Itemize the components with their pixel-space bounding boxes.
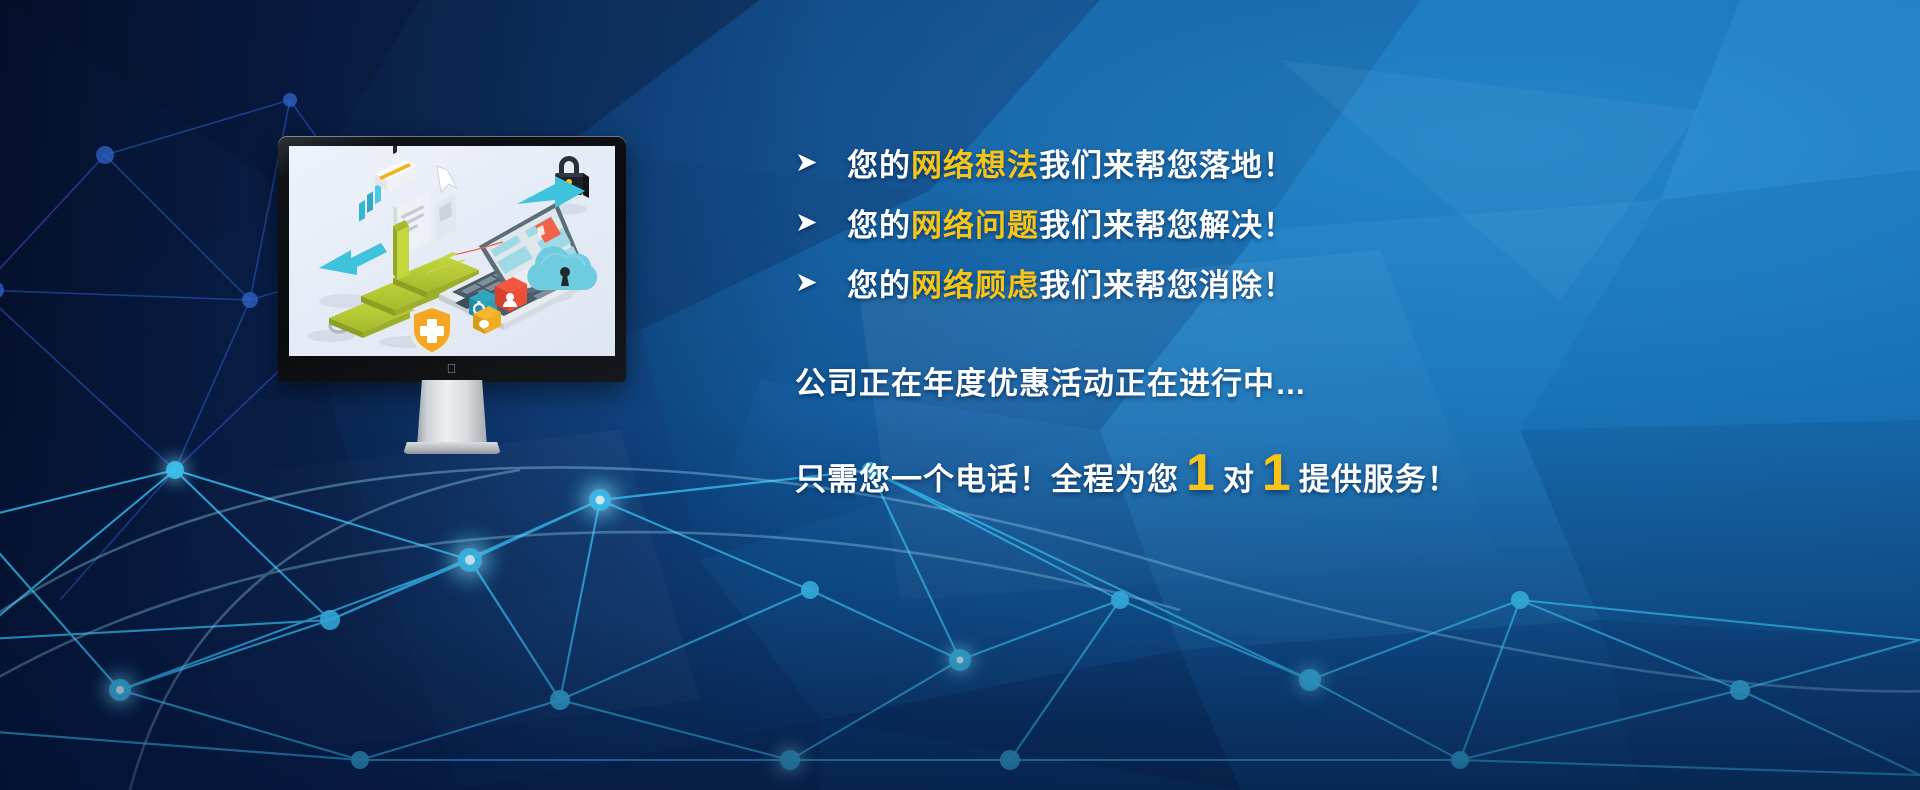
pen-icon [393,220,409,280]
arrow-right-triangle-icon: ➤ [795,209,847,236]
promo-subline: 只需您一个电话！全程为您 1 对 1 提供服务！ [795,447,1885,499]
promo-subline-middle: 对 [1223,454,1255,499]
apple-logo-icon:  [447,362,458,375]
bullet-row: ➤ 您的网络顾虑我们来帮您消除！ [795,252,1885,312]
bullet-highlight: 网络顾虑 [911,268,1039,303]
monitor-frame:  [278,136,626,382]
promo-subline-part2: 提供服务！ [1299,454,1459,499]
shield-plus-icon [410,304,454,356]
bullet-highlight: 网络想法 [911,148,1039,183]
left-arrow-icon [319,183,387,275]
bullet-suffix: 我们来帮您解决！ [1039,208,1295,243]
monitor-stand-foot [403,442,501,454]
promo-subline-part1: 只需您一个电话！全程为您 [795,454,1179,499]
bullet-suffix: 我们来帮您消除！ [1039,268,1295,303]
bullet-highlight: 网络问题 [911,208,1039,243]
promo-number-first: 1 [1179,447,1223,499]
monitor-screen [289,146,615,356]
bullet-text: 您的网络想法我们来帮您落地！ [847,140,1295,185]
bullet-prefix: 您的 [847,268,911,303]
bullet-prefix: 您的 [847,148,911,183]
promo-number-second: 1 [1255,447,1299,499]
arrow-right-triangle-icon: ➤ [795,269,847,296]
cursor-pointer-icon [437,166,457,192]
arrow-right-triangle-icon: ➤ [795,149,847,176]
envelope-lock-icon [375,146,417,190]
bullet-suffix: 我们来帮您落地！ [1039,148,1295,183]
bullet-prefix: 您的 [847,208,911,243]
bullet-text: 您的网络顾虑我们来帮您消除！ [847,260,1295,305]
isometric-network-security-illustration [289,146,615,356]
bullet-row: ➤ 您的网络想法我们来帮您落地！ [795,132,1885,192]
imac-monitor-mockup:  [278,136,626,382]
marketing-copy-block: ➤ 您的网络想法我们来帮您落地！ ➤ 您的网络问题我们来帮您解决！ ➤ 您的网络… [795,132,1885,499]
promo-banner:  ➤ 您的网络想法我们来帮您落地！ ➤ 您的网络问题我们来帮您解决！ ➤ 您的… [0,0,1920,790]
promo-headline: 公司正在年度优惠活动正在进行中… [795,358,1885,403]
monitor-stand-neck [417,380,487,446]
bullet-text: 您的网络问题我们来帮您解决！ [847,200,1295,245]
bullet-row: ➤ 您的网络问题我们来帮您解决！ [795,192,1885,252]
